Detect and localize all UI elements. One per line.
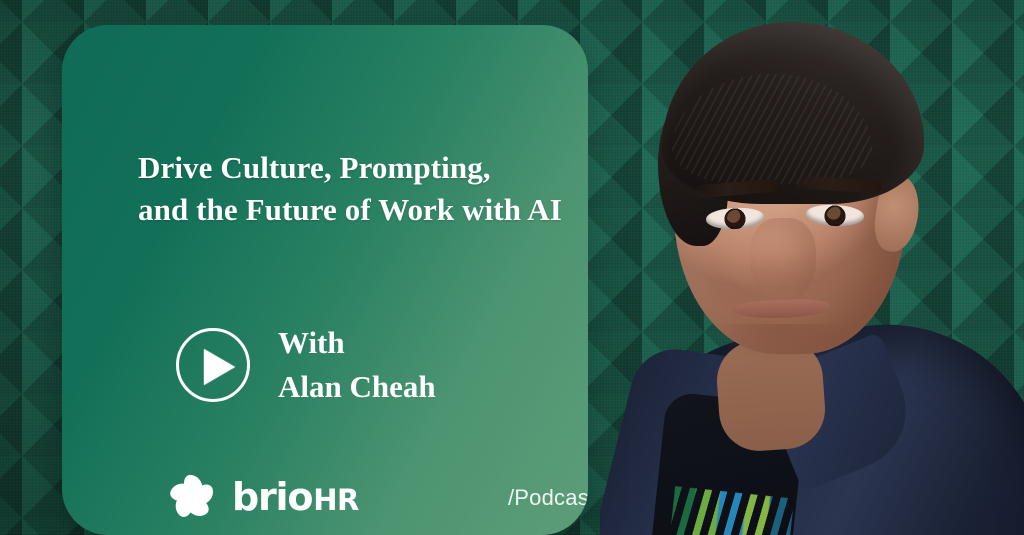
brand-name-secondary: HR [313,486,359,515]
guest-credit-text: With Alan Cheah [278,321,436,409]
brand-wordmark: brio HR [232,478,359,516]
portrait-nose [750,218,816,302]
play-triangle-icon [204,349,235,385]
episode-title-line-2: and the Future of Work with AI [138,189,568,231]
brand-name-primary: brio [232,478,312,516]
brio-swirl-icon [166,471,218,523]
guest-name: Alan Cheah [278,365,436,409]
with-label: With [278,321,436,365]
guest-credit-block: With Alan Cheah [176,321,436,409]
portrait-chin-shadow [708,324,858,364]
episode-title: Drive Culture, Prompting, and the Future… [138,147,568,231]
podcast-cover-canvas: Drive Culture, Prompting, and the Future… [0,0,1024,535]
episode-info-card: Drive Culture, Prompting, and the Future… [62,25,588,535]
category-tag: /Podcast [508,485,588,511]
episode-title-line-1: Drive Culture, Prompting, [138,147,568,189]
portrait-hair [662,22,924,204]
play-circle-icon[interactable] [176,328,250,402]
guest-portrait-photo [600,0,1024,535]
